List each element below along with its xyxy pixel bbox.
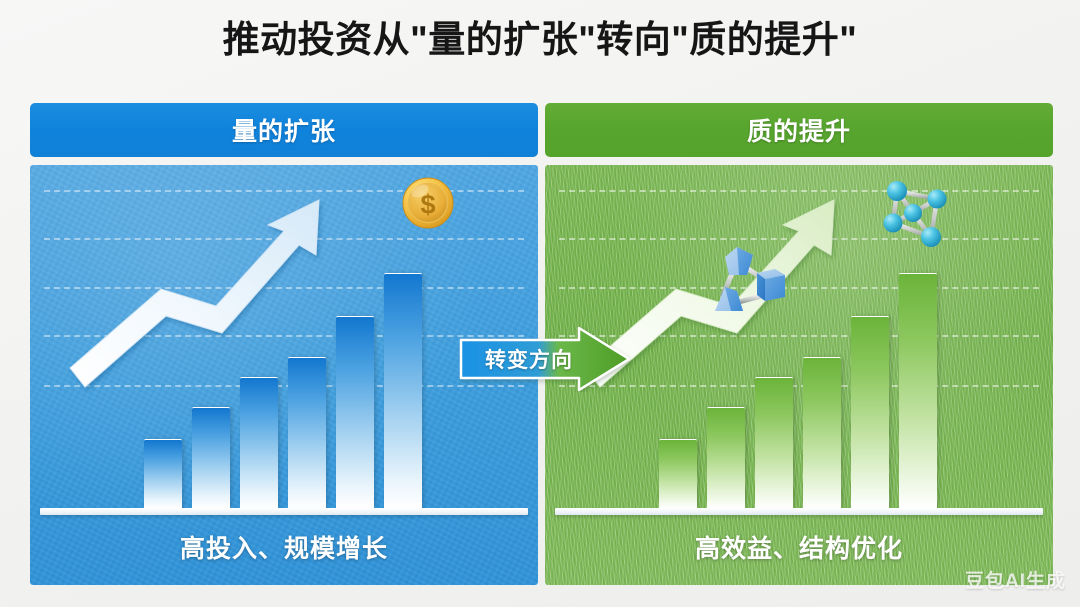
bar-2 <box>707 407 745 508</box>
transition-arrow-label: 转变方向 <box>459 326 599 392</box>
bar-4 <box>803 357 841 508</box>
gridline <box>44 335 524 337</box>
bar-3 <box>755 377 793 508</box>
slide-root: 推动投资从"量的扩张"转向"质的提升" 量的扩张 <box>0 0 1080 607</box>
bar-6 <box>384 273 422 508</box>
cube-shape <box>757 269 785 301</box>
bar-6 <box>899 273 937 508</box>
gridline <box>559 385 1039 387</box>
chart-baseline <box>40 508 528 515</box>
prism-shape <box>715 287 743 311</box>
page-title: 推动投资从"量的扩张"转向"质的提升" <box>0 18 1080 62</box>
molecule-icon <box>875 171 971 259</box>
panel-caption-quantity: 高投入、规模增长 <box>30 529 538 565</box>
molecule-node <box>887 181 907 201</box>
bar-3 <box>240 377 278 508</box>
bar-5 <box>851 316 889 508</box>
panel-header-quantity: 量的扩张 <box>30 103 538 157</box>
molecule-node <box>904 204 922 222</box>
bar-5 <box>336 316 374 508</box>
panel-header-label-quantity: 量的扩张 <box>232 112 336 148</box>
geometric-blocks-icon <box>703 245 803 327</box>
bar-2 <box>192 407 230 508</box>
bar-4 <box>288 357 326 508</box>
chart-baseline <box>555 508 1043 515</box>
gridline <box>44 385 524 387</box>
molecule-node <box>884 214 903 233</box>
panel-header-label-quality: 质的提升 <box>747 112 851 148</box>
dollar-coin-icon: $ <box>400 175 456 231</box>
molecule-node <box>928 190 947 209</box>
panel-caption-quality: 高效益、结构优化 <box>545 529 1053 565</box>
gridline <box>44 287 524 289</box>
gridline <box>44 238 524 240</box>
transition-arrow: 转变方向 <box>459 326 631 392</box>
panel-header-quality: 质的提升 <box>545 103 1053 157</box>
molecule-node <box>921 227 941 247</box>
gridline <box>559 335 1039 337</box>
bar-1 <box>659 439 697 508</box>
watermark: 豆包AI生成 <box>965 566 1066 593</box>
page-title-text: 推动投资从"量的扩张"转向"质的提升" <box>223 19 858 60</box>
bar-1 <box>144 439 182 508</box>
